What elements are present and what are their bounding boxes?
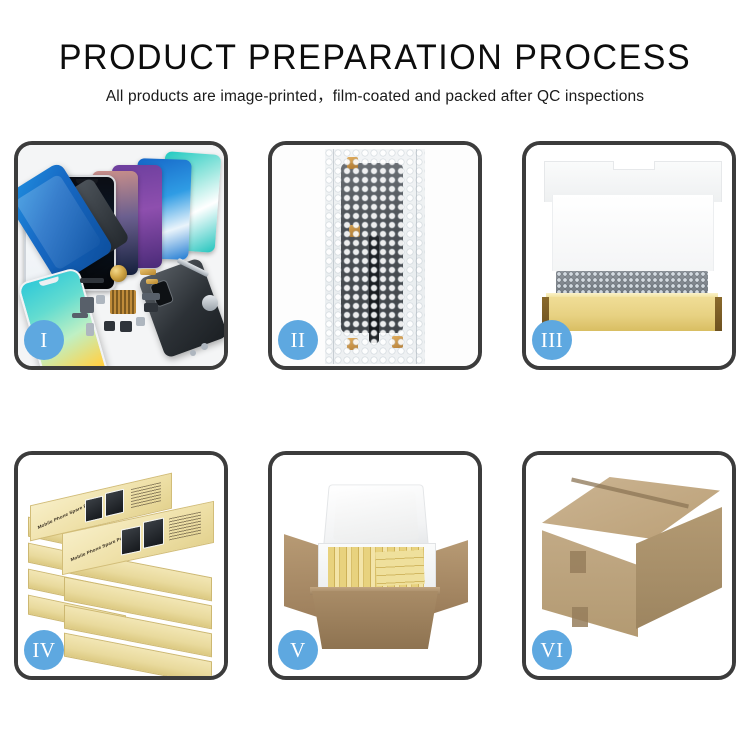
component-speaker-coil [110,265,127,282]
carton-tape-upper [570,551,586,573]
component-sensor [136,317,145,326]
box-art-screen-d [143,517,164,548]
box-spec-lines-rear [131,482,161,509]
step-badge-2: II [278,320,318,360]
step-badge-5: V [278,630,318,670]
carton-front [312,591,438,649]
box-spec-lines-front [169,512,201,541]
step-badge-4: IV [24,630,64,670]
component-screw-b [190,350,196,356]
process-step-5[interactable]: V [268,451,482,680]
box-interior [552,195,714,271]
box-art-screen-c [121,525,141,555]
process-step-grid: I II III [14,141,736,680]
component-bracket-a [80,297,94,313]
component-sim-tray [86,323,94,336]
step-badge-1: I [24,320,64,360]
packed-retail-boxes [328,547,424,589]
step-badge-6: VI [532,630,572,670]
component-button [104,321,115,331]
process-step-4[interactable]: Mobile Phone Spare Parts Mobile Phone Sp… [14,451,228,680]
box-art-screen-b [105,489,124,517]
step-badge-3: III [532,320,572,360]
component-connector-a [142,293,160,300]
process-step-2[interactable]: II [268,141,482,370]
header: PRODUCT PREPARATION PROCESS All products… [0,0,750,107]
component-earpiece [80,278,104,283]
component-camera-module [120,321,132,332]
component-flex-gold-a [140,269,156,275]
process-step-6[interactable]: VI [522,451,736,680]
process-step-1[interactable]: I [14,141,228,370]
component-antenna [72,313,88,318]
component-screw-a [201,343,208,350]
process-step-3[interactable]: III [522,141,736,370]
component-flex-gold-b [146,279,158,284]
box-tray-front [542,297,722,331]
component-connector-b [144,303,158,312]
foam-lid [323,484,429,549]
component-bracket-b [96,295,105,304]
tool-screwdriver-tip [202,295,218,311]
carton-tape-lower [572,607,588,627]
box-art-screen-a [85,496,103,523]
page-title: PRODUCT PREPARATION PROCESS [11,38,739,78]
bubble-wrap-bag [325,149,425,364]
page-subtitle: All products are image-printed，film-coat… [0,87,750,107]
component-chip-array [110,290,136,314]
